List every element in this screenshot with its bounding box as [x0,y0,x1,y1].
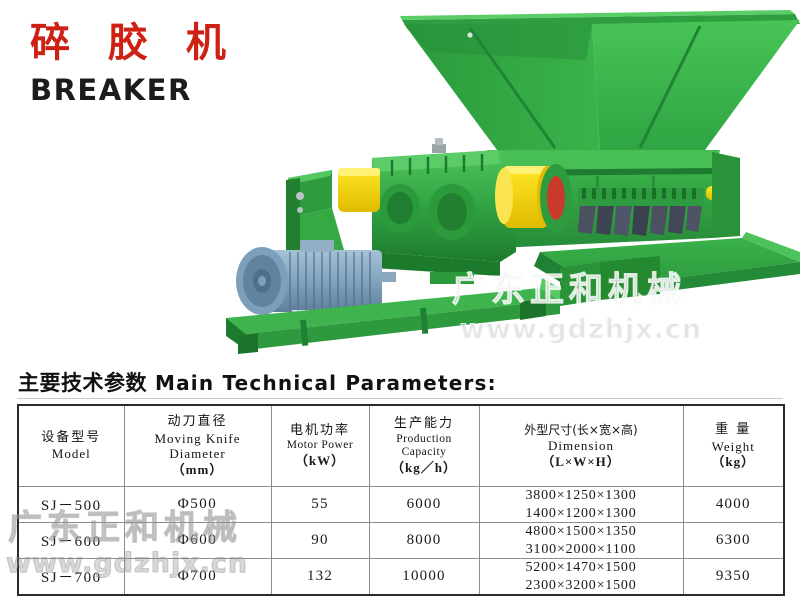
title-chinese: 碎 胶 机 [30,22,238,64]
page-title: 碎 胶 机 BREAKER [30,22,238,105]
table-header-row: 设备型号 Model 动刀直径 Moving Knife Diameter （m… [18,405,784,487]
cell-capacity: 8000 [369,523,479,559]
col-header-weight: 重 量 Weight （kg） [683,405,784,487]
col-header-weight-cn: 重 量 [684,422,784,438]
cell-dimension-line1: 5200×1470×1500 [480,559,683,577]
col-header-knife-diameter: 动刀直径 Moving Knife Diameter （mm） [124,405,271,487]
table-row: SJ－700 Φ700 132 10000 5200×1470×1500 230… [18,559,784,596]
col-header-dimension-unit: （L×W×H） [480,454,683,470]
cell-dimension-line1: 4800×1500×1350 [480,523,683,541]
cell-dimension-line1: 3800×1250×1300 [480,487,683,505]
cell-dimension-line2: 1400×1200×1300 [480,505,683,523]
specifications-table: 设备型号 Model 动刀直径 Moving Knife Diameter （m… [17,404,785,596]
cell-capacity: 6000 [369,487,479,523]
spec-heading: 主要技术参数Main Technical Parameters: [18,367,497,397]
cell-power: 132 [271,559,369,596]
flywheel [540,164,572,232]
cell-model: SJ－600 [18,523,124,559]
cell-weight: 6300 [683,523,784,559]
col-header-dimension-cn: 外型尺寸(长×宽×高) [480,423,683,438]
col-header-motor-power-unit: （kW） [272,453,369,469]
cell-weight: 9350 [683,559,784,596]
cell-knife: Φ600 [124,523,271,559]
col-header-model-en: Model [19,446,124,462]
cell-capacity: 10000 [369,559,479,596]
cell-knife: Φ500 [124,487,271,523]
col-header-motor-power: 电机功率 Motor Power （kW） [271,405,369,487]
col-header-knife-diameter-en2: Diameter [125,446,271,462]
table-row: SJ－500 Φ500 55 6000 3800×1250×1300 1400×… [18,487,784,523]
cell-dimension: 4800×1500×1350 3100×2000×1100 [479,523,683,559]
cell-power: 90 [271,523,369,559]
col-header-capacity-unit: （kg／h） [370,460,479,476]
title-english: BREAKER [30,76,238,105]
col-header-motor-power-cn: 电机功率 [272,423,369,439]
cell-dimension-line2: 3100×2000×1100 [480,541,683,559]
gearbox [372,138,516,284]
cell-model: SJ－500 [18,487,124,523]
col-header-dimension: 外型尺寸(长×宽×高) Dimension （L×W×H） [479,405,683,487]
col-header-knife-diameter-cn: 动刀直径 [125,414,271,430]
col-header-knife-diameter-unit: （mm） [125,462,271,478]
cell-dimension: 3800×1250×1300 1400×1200×1300 [479,487,683,523]
col-header-model-cn: 设备型号 [19,430,124,446]
col-header-model: 设备型号 Model [18,405,124,487]
col-header-weight-unit: （kg） [684,454,784,470]
cell-power: 55 [271,487,369,523]
heading-divider [17,398,783,399]
table-row: SJ－600 Φ600 90 8000 4800×1500×1350 3100×… [18,523,784,559]
col-header-weight-en: Weight [684,439,784,455]
spec-heading-english: Main Technical Parameters: [155,371,497,395]
cell-dimension: 5200×1470×1500 2300×3200×1500 [479,559,683,596]
cell-knife: Φ700 [124,559,271,596]
col-header-capacity: 生产能力 Production Capacity （kg／h） [369,405,479,487]
hopper [400,10,800,158]
col-header-capacity-en2: Capacity [370,446,479,460]
cell-weight: 4000 [683,487,784,523]
col-header-motor-power-en: Motor Power [272,439,369,453]
col-header-capacity-en1: Production [370,433,479,447]
col-header-capacity-cn: 生产能力 [370,416,479,432]
col-header-knife-diameter-en1: Moving Knife [125,431,271,447]
cell-model: SJ－700 [18,559,124,596]
cell-dimension-line2: 2300×3200×1500 [480,577,683,595]
col-header-dimension-en: Dimension [480,438,683,454]
table-body: SJ－500 Φ500 55 6000 3800×1250×1300 1400×… [18,487,784,596]
spec-heading-chinese: 主要技术参数 [18,371,147,395]
